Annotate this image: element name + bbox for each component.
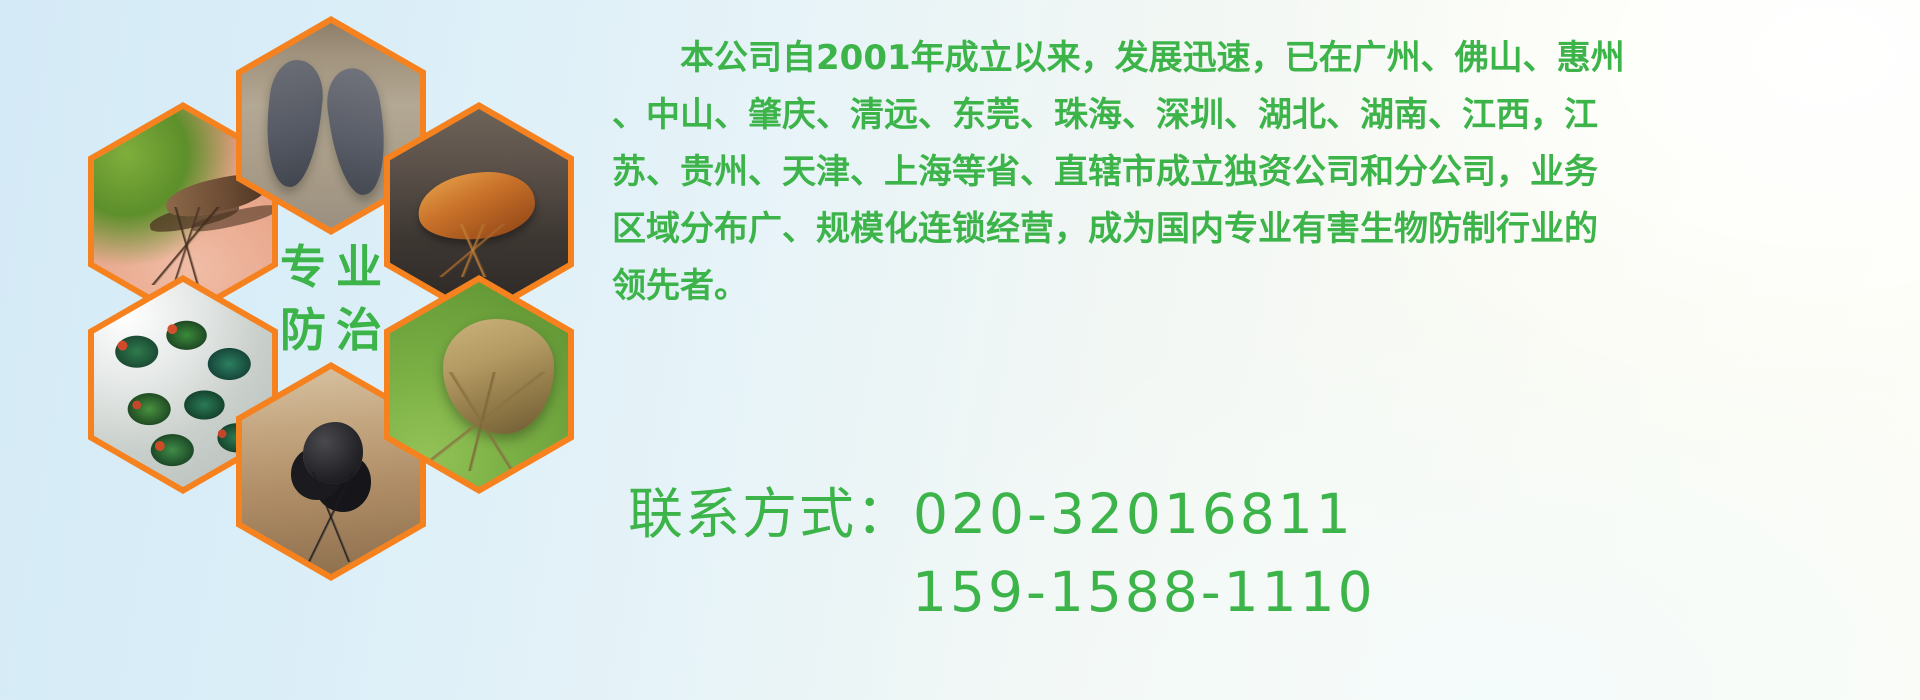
badge-professional-control: 专业 防治 xyxy=(236,189,426,408)
contact-label: 联系方式： xyxy=(628,475,913,553)
about-company-paragraph: 本公司自2001年成立以来，发展迅速，已在广州、佛山、惠州、中山、肇庆、清远、东… xyxy=(612,30,1912,315)
about-line-2: 、中山、肇庆、清远、东莞、珠海、深圳、湖北、湖南、江西，江 xyxy=(612,87,1912,144)
content-panel: 本公司自2001年成立以来，发展迅速，已在广州、佛山、惠州、中山、肇庆、清远、东… xyxy=(612,0,1920,700)
about-line-3: 苏、贵州、天津、上海等省、直辖市成立独资公司和分公司，业务 xyxy=(612,144,1912,201)
about-line-1: 本公司自2001年成立以来，发展迅速，已在广州、佛山、惠州 xyxy=(612,30,1912,87)
about-line-4: 区域分布广、规模化连锁经营，成为国内专业有害生物防制行业的 xyxy=(612,201,1912,258)
about-line-5: 领先者。 xyxy=(612,258,1912,315)
contact-phone-secondary[interactable]: 159-1588-1110 xyxy=(912,553,1376,631)
hexagon-photo-cluster: 专业 防治 xyxy=(88,0,618,572)
contact-phone-primary[interactable]: 020-32016811 xyxy=(913,475,1354,553)
badge-line-1: 专业 xyxy=(270,239,392,295)
contact-block: 联系方式： 020-32016811 159-1588-1110 xyxy=(628,475,1908,631)
contact-row-secondary: 159-1588-1110 xyxy=(628,553,1908,631)
badge-line-2: 防治 xyxy=(270,302,392,358)
contact-row-primary: 联系方式： 020-32016811 xyxy=(628,475,1908,553)
